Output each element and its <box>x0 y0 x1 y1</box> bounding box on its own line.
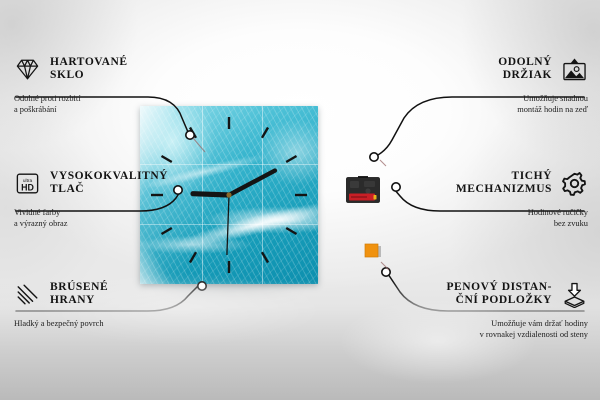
callout-dot-mechanism <box>392 183 400 191</box>
second-hand <box>227 195 229 255</box>
feature-title: PENOVÝ DISTAN- ČNÍ PODLOŽKY <box>446 281 552 308</box>
foam-spacer-pad <box>364 243 382 260</box>
feature-title: VYSOKOKVALITNÝ TLAČ <box>50 170 168 197</box>
feature-title: BRÚSENÉ HRANY <box>50 281 108 308</box>
clock-marker <box>190 128 196 138</box>
svg-text:HD: HD <box>21 182 34 192</box>
feature-title: TICHÝ MECHANIZMUS <box>456 170 552 197</box>
diagonal-lines-icon <box>14 281 41 308</box>
clock-marker <box>262 128 268 138</box>
press-down-pad-icon <box>561 281 588 308</box>
clock-marker <box>190 252 196 262</box>
feature-header: ODOLNÝ DRŽIAK <box>413 52 588 86</box>
callout-dot-spacers <box>382 268 390 276</box>
feature-description: Umožňuje vám držať hodiny v rovnakej vzd… <box>388 318 588 340</box>
clock-center-cap <box>226 192 231 197</box>
feature-header: ultra HD VYSOKOKVALITNÝ TLAČ <box>14 166 189 200</box>
minute-hand <box>229 171 275 195</box>
feature-polished-edges: BRÚSENÉ HRANY Hladký a bezpečný povrch <box>14 277 189 329</box>
feature-description: Vividné farby a výrazný obraz <box>14 207 189 229</box>
infographic-canvas: HARTOVANÉ SKLO Odolné proti rozbití a po… <box>0 0 600 400</box>
clock-marker <box>262 252 268 262</box>
picture-frame-hanger-icon <box>561 56 588 83</box>
feature-tempered-glass: HARTOVANÉ SKLO Odolné proti rozbití a po… <box>14 52 189 115</box>
feature-header: TICHÝ MECHANIZMUS <box>413 166 588 200</box>
feature-description: Hladký a bezpečný povrch <box>14 318 189 329</box>
feature-description: Odolné proti rozbití a poškrábání <box>14 93 189 115</box>
feature-foam-spacers: PENOVÝ DISTAN- ČNÍ PODLOŽKY Umožňuje vám… <box>388 277 588 340</box>
ultra-hd-badge-icon: ultra HD <box>14 170 41 197</box>
callout-dot-hanger <box>370 153 378 161</box>
feature-header: PENOVÝ DISTAN- ČNÍ PODLOŽKY <box>388 277 588 311</box>
feature-description: Hodinové ručičky bez zvuku <box>413 207 588 229</box>
clock-mechanism <box>345 171 381 204</box>
clock-marker <box>162 156 172 162</box>
gear-icon <box>561 170 588 197</box>
feature-title: ODOLNÝ DRŽIAK <box>498 56 552 83</box>
clock-marker <box>286 228 296 234</box>
feature-durable-hanger: ODOLNÝ DRŽIAK Umožňuje snadnou montáž ho… <box>413 52 588 115</box>
clock-marker <box>286 156 296 162</box>
feature-description: Umožňuje snadnou montáž hodin na zeď <box>413 93 588 115</box>
feature-high-quality-print: ultra HD VYSOKOKVALITNÝ TLAČ Vividné far… <box>14 166 189 229</box>
feature-title: HARTOVANÉ SKLO <box>50 56 128 83</box>
feature-header: HARTOVANÉ SKLO <box>14 52 189 86</box>
diamond-icon <box>14 56 41 83</box>
feature-silent-mechanism: TICHÝ MECHANIZMUS Hodinové ručičky bez z… <box>413 166 588 229</box>
hour-hand <box>193 194 229 195</box>
feature-header: BRÚSENÉ HRANY <box>14 277 189 311</box>
